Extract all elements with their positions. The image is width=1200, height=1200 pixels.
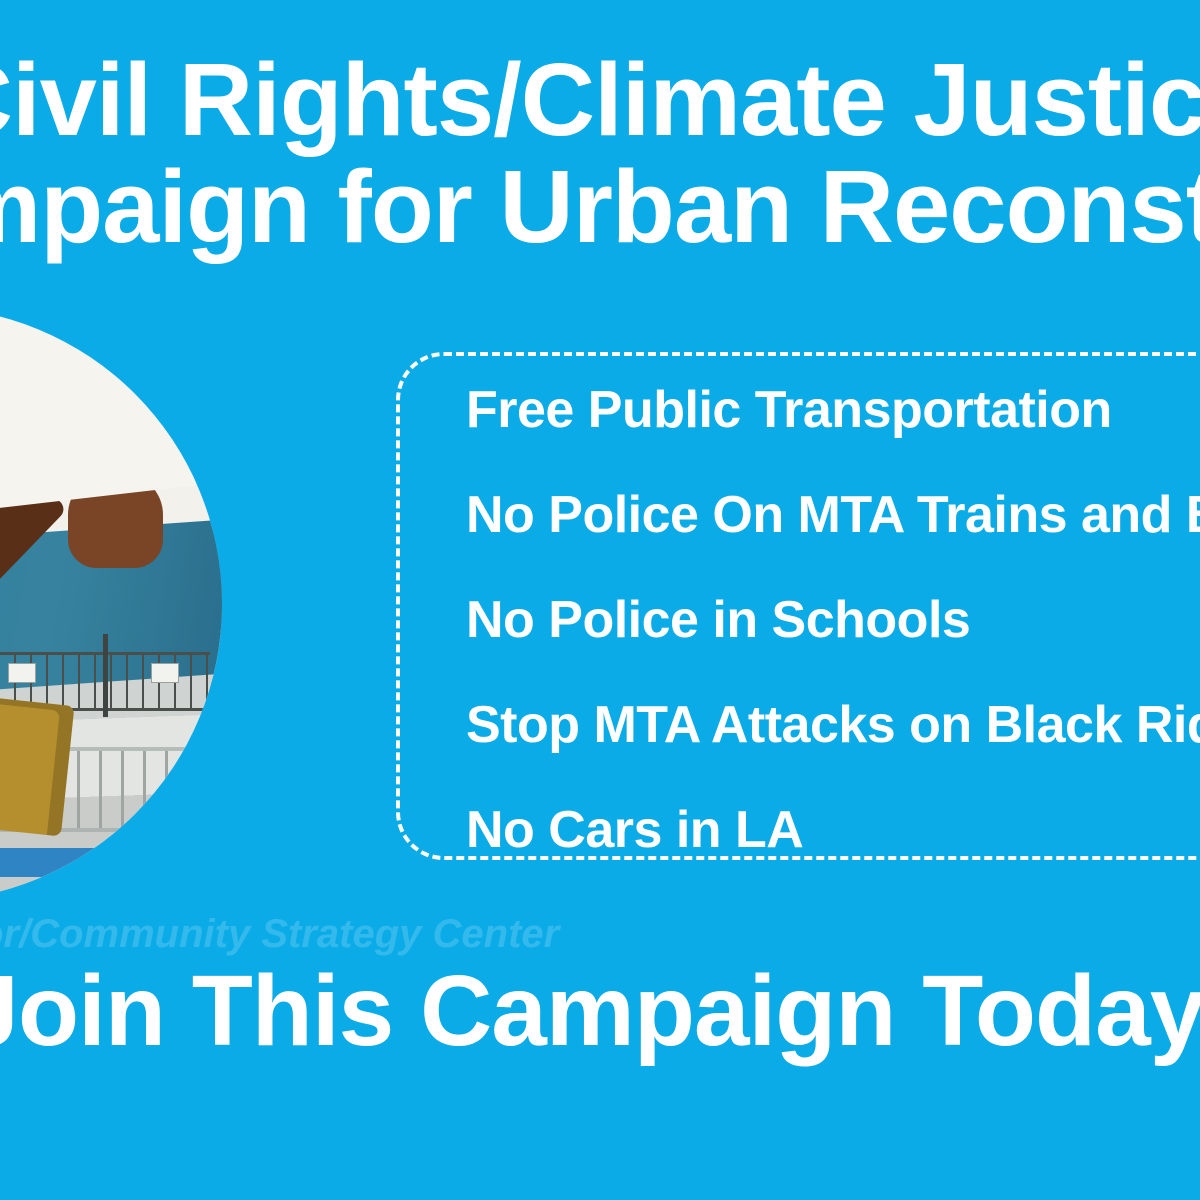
page-title-line-2: Campaign for Urban Reconstruction (0, 155, 1200, 259)
list-item: Free Public Transportation (466, 382, 1200, 438)
list-item: No Cars in LA (466, 802, 1200, 858)
photo-sign (8, 663, 36, 683)
organization-watermark: Labor/Community Strategy Center (0, 912, 559, 957)
page-title-line-1: Civil Rights/Climate Justice (0, 48, 1200, 152)
list-item: No Police On MTA Trains and Buses (466, 487, 1200, 543)
list-item: Stop MTA Attacks on Black Riders (466, 697, 1200, 753)
call-to-action-headline: Join This Campaign Today! (0, 960, 1200, 1062)
demands-panel: Free Public Transportation No Police On … (396, 352, 1200, 860)
campaign-poster: Civil Rights/Climate Justice Campaign fo… (0, 0, 1200, 1200)
photo-pole (103, 634, 108, 717)
list-item: No Police in Schools (466, 592, 1200, 648)
circular-photo-badge: No Police In Schools No Police On Buses … (0, 307, 222, 901)
photo-sign (151, 663, 179, 683)
photo-blue-curb (0, 848, 222, 878)
